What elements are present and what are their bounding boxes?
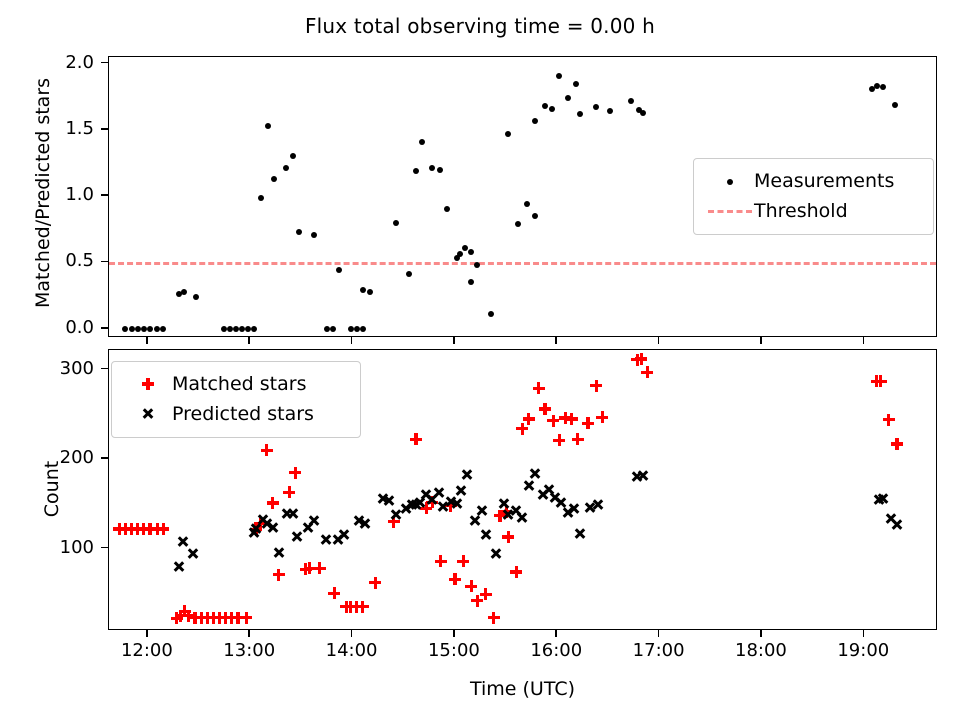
data-point	[577, 111, 583, 117]
x-tick-mark	[760, 630, 762, 637]
data-point	[227, 326, 233, 332]
data-point	[154, 326, 160, 332]
data-point	[271, 176, 277, 182]
data-point	[258, 195, 264, 201]
data-point	[311, 232, 317, 238]
top-panel-legend: Measurements Threshold	[693, 158, 934, 235]
x-tick-mark	[351, 630, 353, 637]
legend-item-predicted-stars: Predicted stars	[124, 399, 348, 429]
legend-label-threshold: Threshold	[754, 200, 848, 222]
data-point	[468, 249, 474, 255]
x-tick-label: 16:00	[511, 641, 601, 661]
data-point	[573, 81, 579, 87]
data-point	[457, 251, 463, 257]
x-tick-mark	[760, 337, 762, 344]
x-tick-mark	[658, 337, 660, 344]
y-tick-mark	[101, 368, 108, 370]
data-point	[488, 311, 494, 317]
data-point	[413, 168, 419, 174]
data-point	[290, 153, 296, 159]
x-tick-label: 19:00	[818, 641, 908, 661]
x-tick-mark	[248, 337, 250, 344]
bottom-y-axis-label: Count	[41, 439, 63, 539]
data-point	[193, 294, 199, 300]
x-tick-mark	[555, 630, 557, 637]
data-point	[354, 326, 360, 332]
data-point	[265, 123, 271, 129]
y-tick-mark	[101, 547, 108, 549]
y-tick-mark	[101, 62, 108, 64]
predicted-stars-x-icon	[124, 402, 172, 426]
y-tick-mark	[101, 128, 108, 130]
x-tick-mark	[863, 630, 865, 637]
y-tick-label: 300	[34, 360, 94, 378]
legend-item-threshold: Threshold	[706, 196, 921, 226]
legend-item-matched-stars: Matched stars	[124, 369, 348, 399]
data-point	[251, 326, 257, 332]
matched-stars-plus-icon	[124, 372, 172, 396]
legend-label-predicted-stars: Predicted stars	[172, 403, 314, 425]
top-y-axis-label: Matched/Predicted stars	[32, 53, 54, 333]
data-point	[474, 262, 480, 268]
data-point	[129, 326, 135, 332]
data-point	[524, 201, 530, 207]
data-point	[880, 84, 886, 90]
data-point	[147, 326, 153, 332]
data-point	[542, 103, 548, 109]
data-point	[367, 289, 373, 295]
bottom-panel-legend: Matched stars Predicted stars	[111, 361, 361, 438]
threshold-line	[109, 262, 936, 265]
data-point	[437, 167, 443, 173]
data-point	[283, 165, 289, 171]
data-point	[160, 326, 166, 332]
x-tick-label: 12:00	[102, 641, 192, 661]
y-tick-label: 100	[34, 539, 94, 557]
data-point	[628, 98, 634, 104]
data-point	[607, 108, 613, 114]
data-point	[515, 221, 521, 227]
data-point	[640, 110, 646, 116]
legend-item-measurements: Measurements	[706, 166, 921, 196]
data-point	[406, 271, 412, 277]
x-axis-label: Time (UTC)	[108, 678, 937, 700]
x-tick-mark	[555, 337, 557, 344]
data-point	[505, 131, 511, 137]
x-tick-label: 14:00	[307, 641, 397, 661]
x-tick-mark	[658, 630, 660, 637]
data-point	[330, 326, 336, 332]
data-point	[549, 106, 555, 112]
data-point	[336, 267, 342, 273]
y-tick-mark	[101, 261, 108, 263]
data-point	[135, 326, 141, 332]
data-point	[462, 245, 468, 251]
x-tick-label: 13:00	[204, 641, 294, 661]
data-point	[181, 289, 187, 295]
x-tick-mark	[146, 337, 148, 344]
data-point	[593, 104, 599, 110]
y-tick-mark	[101, 194, 108, 196]
data-point	[444, 206, 450, 212]
threshold-dashed-line-icon	[706, 199, 754, 223]
page-title: Flux total observing time = 0.00 h	[0, 14, 960, 38]
data-point	[892, 102, 898, 108]
legend-label-matched-stars: Matched stars	[172, 373, 306, 395]
y-tick-mark	[101, 327, 108, 329]
data-point	[360, 287, 366, 293]
data-point	[122, 326, 128, 332]
data-point	[874, 83, 880, 89]
x-tick-mark	[248, 630, 250, 637]
x-tick-label: 15:00	[409, 641, 499, 661]
x-tick-mark	[453, 337, 455, 344]
data-point	[419, 139, 425, 145]
data-point	[141, 326, 147, 332]
data-point	[233, 326, 239, 332]
data-point	[532, 118, 538, 124]
data-point	[565, 95, 571, 101]
data-point	[324, 326, 330, 332]
matplotlib-figure: Flux total observing time = 0.00 h 0.00.…	[0, 0, 960, 720]
measurements-dot-icon	[706, 169, 754, 193]
x-tick-mark	[453, 630, 455, 637]
data-point	[556, 73, 562, 79]
x-tick-label: 18:00	[716, 641, 806, 661]
data-point	[348, 326, 354, 332]
data-point	[245, 326, 251, 332]
x-tick-label: 17:00	[614, 641, 704, 661]
x-tick-mark	[146, 630, 148, 637]
data-point	[532, 213, 538, 219]
x-tick-mark	[863, 337, 865, 344]
data-point	[360, 326, 366, 332]
data-point	[221, 326, 227, 332]
legend-label-measurements: Measurements	[754, 170, 894, 192]
y-tick-mark	[101, 457, 108, 459]
data-point	[468, 279, 474, 285]
data-point	[239, 326, 245, 332]
data-point	[393, 220, 399, 226]
data-point	[296, 229, 302, 235]
data-point	[429, 165, 435, 171]
x-tick-mark	[351, 337, 353, 344]
